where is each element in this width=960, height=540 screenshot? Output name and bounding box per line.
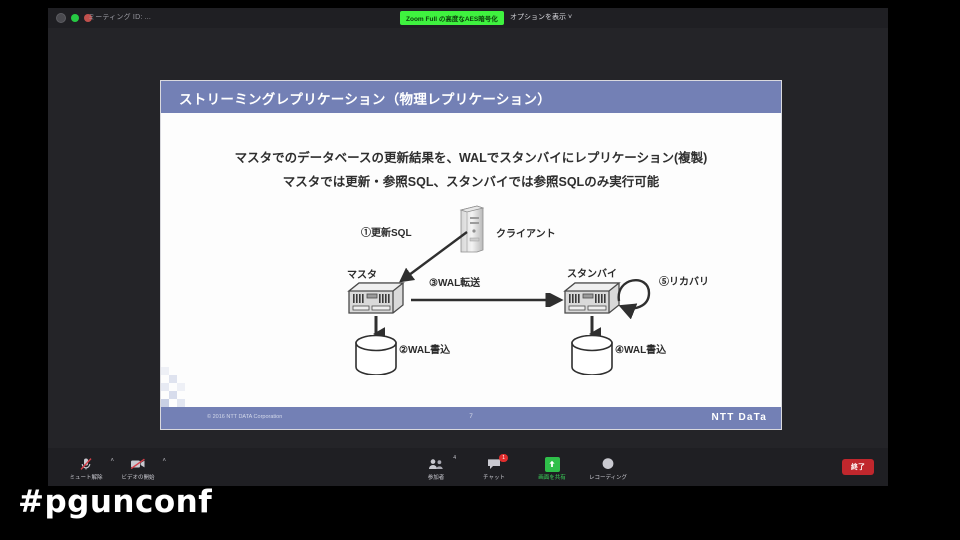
chat-button[interactable]: 1 チャット	[468, 456, 520, 481]
zoom-toolbar: ミュート解除 ˄ ビデオの開始 ˄	[48, 448, 888, 486]
nttdata-logo: NTT DaTa	[711, 412, 767, 423]
standby-database-icon	[569, 335, 615, 375]
presentation-slide: ストリーミングレプリケーション（物理レプリケーション） マスタでのデータベースの…	[160, 80, 782, 430]
caption-hashtag: #pgunconf	[18, 484, 212, 520]
recovery-loop-arrow	[613, 271, 659, 319]
chat-icon: 1	[468, 456, 520, 472]
slide-body: マスタでのデータベースの更新結果を、WALでスタンバイにレプリケーション(複製)…	[161, 113, 781, 398]
participants-count: 4	[453, 455, 456, 461]
mute-label: ミュート解除	[60, 473, 112, 481]
close-icon[interactable]	[56, 13, 66, 23]
replication-diagram: クライアント ①更新SQL マスタ	[161, 113, 781, 398]
participants-icon: 4	[410, 456, 462, 472]
video-muted-icon	[112, 456, 164, 472]
step5-label: ⑤リカバリ	[659, 273, 709, 288]
video-label: ビデオの開始	[112, 473, 164, 481]
slide-page-number: 7	[161, 413, 781, 420]
wal-transfer-arrow	[411, 293, 571, 307]
microphone-muted-icon	[60, 456, 112, 472]
step4-label: ④WAL書込	[615, 341, 666, 356]
window-controls[interactable]	[56, 13, 92, 23]
master-label: マスタ	[347, 266, 377, 281]
screen-root: ミーティング ID: ... Zoom Full の高度なAES暗号化 オプショ…	[0, 0, 960, 540]
minimize-icon[interactable]	[71, 14, 79, 22]
record-icon	[582, 456, 634, 472]
slide-footer-bar: © 2016 NTT DATA Corporation 7 NTT DaTa	[161, 407, 781, 429]
master-server-icon	[347, 281, 405, 315]
record-label: レコーディング	[582, 473, 634, 481]
share-screen-button[interactable]: 画面を共有	[526, 456, 578, 481]
window-titlebar: ミーティング ID: ... Zoom Full の高度なAES暗号化 オプショ…	[48, 8, 888, 28]
slide-title: ストリーミングレプリケーション（物理レプリケーション）	[179, 88, 551, 108]
video-button[interactable]: ビデオの開始 ˄	[112, 456, 164, 481]
participants-label: 参加者	[410, 473, 462, 481]
step2-label: ②WAL書込	[399, 341, 450, 356]
participants-button[interactable]: 4 参加者	[410, 456, 462, 481]
step3-label: ③WAL転送	[429, 274, 480, 289]
video-caret-icon[interactable]: ˄	[162, 458, 166, 464]
share-screen-icon	[526, 456, 578, 472]
mute-button[interactable]: ミュート解除 ˄	[60, 456, 112, 481]
meeting-title: ミーティング ID: ...	[88, 12, 151, 22]
record-button[interactable]: レコーディング	[582, 456, 634, 481]
master-database-icon	[353, 335, 399, 375]
client-label: クライアント	[496, 225, 556, 240]
shared-screen-stage: ストリーミングレプリケーション（物理レプリケーション） マスタでのデータベースの…	[48, 28, 888, 448]
encryption-badge: Zoom Full の高度なAES暗号化	[400, 11, 504, 25]
chat-badge: 1	[499, 454, 508, 462]
zoom-meeting-window: ミーティング ID: ... Zoom Full の高度なAES暗号化 オプショ…	[48, 8, 888, 486]
standby-label: スタンバイ	[567, 265, 617, 280]
chat-label: チャット	[468, 473, 520, 481]
share-screen-label: 画面を共有	[526, 473, 578, 481]
end-meeting-button[interactable]: 終了	[842, 459, 874, 475]
view-options-button[interactable]: オプションを表示 ˅	[510, 12, 572, 22]
